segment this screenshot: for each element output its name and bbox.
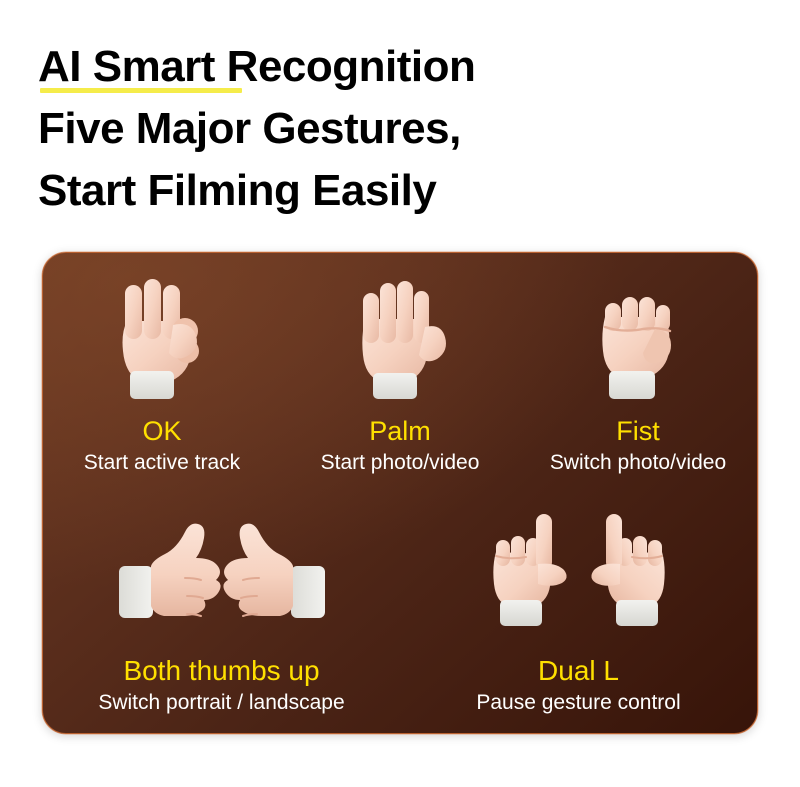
gesture-item-dual-l[interactable]: Dual L Pause gesture control xyxy=(400,512,757,733)
gesture-item-palm[interactable]: Palm Start photo/video xyxy=(281,275,519,488)
heading-underline xyxy=(40,88,242,93)
gesture-grid: OK Start active track xyxy=(43,253,757,733)
gesture-item-both-thumbs-up[interactable]: Both thumbs up Switch portrait / landsca… xyxy=(43,512,400,733)
gesture-description: Pause gesture control xyxy=(476,691,680,714)
gesture-item-ok[interactable]: OK Start active track xyxy=(43,275,281,488)
gesture-title: OK xyxy=(142,417,181,445)
page-title: AI Smart Recognition Five Major Gestures… xyxy=(38,36,738,222)
gesture-description: Start photo/video xyxy=(321,451,480,474)
gesture-row-bottom: Both thumbs up Switch portrait / landsca… xyxy=(43,488,757,733)
fist-icon xyxy=(579,275,697,403)
gesture-card: OK Start active track xyxy=(42,252,758,734)
heading-line-3: Start Filming Easily xyxy=(38,160,738,222)
ok-hand-icon xyxy=(103,275,221,403)
gesture-description: Switch photo/video xyxy=(550,451,726,474)
gesture-title: Palm xyxy=(369,417,431,445)
both-thumbs-up-icon xyxy=(107,512,337,640)
gesture-title: Fist xyxy=(616,417,660,445)
heading-line-2: Five Major Gestures, xyxy=(38,98,738,160)
heading-line-1: AI Smart Recognition xyxy=(38,36,738,98)
dual-l-icon xyxy=(474,512,684,640)
gesture-title: Both thumbs up xyxy=(123,656,319,685)
gesture-title: Dual L xyxy=(538,656,619,685)
gesture-description: Start active track xyxy=(84,451,240,474)
gesture-row-top: OK Start active track xyxy=(43,253,757,488)
gesture-item-fist[interactable]: Fist Switch photo/video xyxy=(519,275,757,488)
heading-line-1-text: AI Smart Recognition xyxy=(38,42,475,91)
gesture-description: Switch portrait / landscape xyxy=(98,691,344,714)
open-palm-icon xyxy=(341,275,459,403)
